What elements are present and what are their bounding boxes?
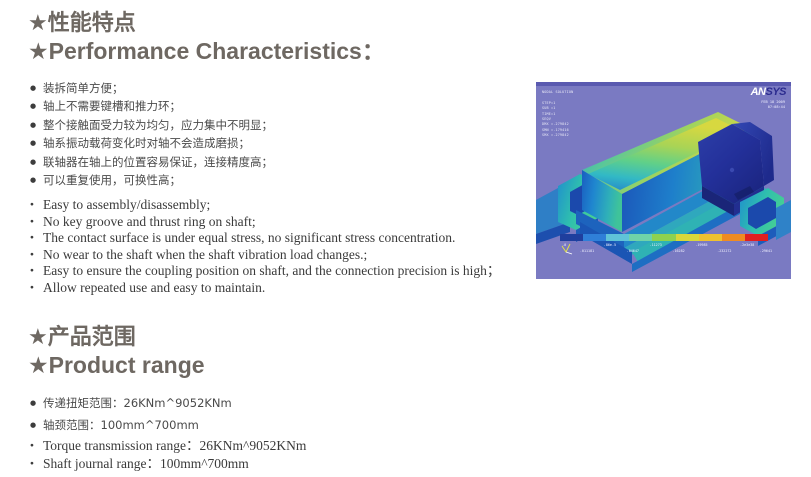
legend-swatch xyxy=(652,234,675,241)
list-item: The contact surface is under equal stres… xyxy=(30,230,500,247)
performance-bullets-cn: 装拆简单方便； 轴上不需要键槽和推力环； 整个接触面受力较为均匀，应力集中不明显… xyxy=(30,79,273,189)
performance-bullets-en: Easy to assembly/disassembly; No key gro… xyxy=(30,197,500,297)
legend-tick: .29641 xyxy=(760,249,772,254)
legend-tick: .19985 xyxy=(695,243,707,248)
fea-color-legend: .0 .86e-5 .11273 .19985 .2e3e38 .011181 … xyxy=(560,234,768,262)
ansys-logo-sys: SYS xyxy=(765,86,786,98)
legend-tick: .04647 xyxy=(627,249,639,254)
legend-swatch xyxy=(629,234,652,241)
legend-swatch xyxy=(722,234,745,241)
legend-tick-labels: .0 .86e-5 .11273 .19985 .2e3e38 .011181 … xyxy=(560,241,768,259)
list-item: Shaft journal range：100mm^700mm xyxy=(30,455,306,473)
list-item: Easy to assembly/disassembly; xyxy=(30,197,500,214)
list-item: 联轴器在轴上的位置容易保证，连接精度高； xyxy=(30,153,273,171)
legend-tick: .0 xyxy=(562,243,566,248)
list-item: No wear to the shaft when the shaft vibr… xyxy=(30,247,500,264)
list-item: 可以重复使用，可换性高； xyxy=(30,171,273,189)
ansys-logo-an: AN xyxy=(751,86,766,98)
legend-tick: .011181 xyxy=(580,249,594,254)
list-item: 整个接触面受力较为均匀，应力集中不明显； xyxy=(30,116,273,134)
list-item: Easy to ensure the coupling position on … xyxy=(30,263,500,280)
list-item: 装拆简单方便； xyxy=(30,79,273,97)
legend-swatch xyxy=(745,234,768,241)
legend-tick: .16282 xyxy=(672,249,684,254)
ansys-logo: ANSYS xyxy=(751,87,786,98)
ansys-fea-image: NODAL SOLUTION STEP=1 SUB =1 TIME=1 SEQV… xyxy=(536,82,791,279)
fea-timestamp: FEB 18 2009 07:08:44 xyxy=(761,100,785,110)
product-range-heading-en: ★Product range xyxy=(28,352,205,378)
legend-swatch xyxy=(606,234,629,241)
list-item: 轴上不需要键槽和推力环； xyxy=(30,97,273,115)
legend-swatch xyxy=(676,234,699,241)
legend-tick: .232272 xyxy=(717,249,731,254)
legend-swatch xyxy=(560,234,583,241)
list-item: No key groove and thrust ring on shaft; xyxy=(30,214,500,231)
list-item: Allow repeated use and easy to maintain. xyxy=(30,280,500,297)
performance-heading-cn: ★性能特点 xyxy=(28,12,136,36)
list-item: 传递扭矩范围：26KNm^9052KNm xyxy=(30,392,232,414)
legend-tick: .2e3e38 xyxy=(740,243,754,248)
legend-swatch xyxy=(699,234,722,241)
product-range-bullets-cn: 传递扭矩范围：26KNm^9052KNm 轴颈范围：100mm^700mm xyxy=(30,392,232,436)
list-item: 轴颈范围：100mm^700mm xyxy=(30,414,232,436)
fea-info-block: NODAL SOLUTION STEP=1 SUB =1 TIME=1 SEQV… xyxy=(542,90,573,139)
performance-heading-en: ★Performance Characteristics： xyxy=(28,38,385,64)
product-range-heading-cn: ★产品范围 xyxy=(28,326,136,350)
list-item: Torque transmission range：26KNm^9052KNm xyxy=(30,437,306,455)
list-item: 轴系振动载荷变化时对轴不会造成磨损； xyxy=(30,134,273,152)
legend-tick: .11273 xyxy=(650,243,662,248)
legend-color-bar xyxy=(560,234,768,241)
product-range-bullets-en: Torque transmission range：26KNm^9052KNm … xyxy=(30,437,306,473)
legend-tick: .86e-5 xyxy=(604,243,616,248)
legend-swatch xyxy=(583,234,606,241)
